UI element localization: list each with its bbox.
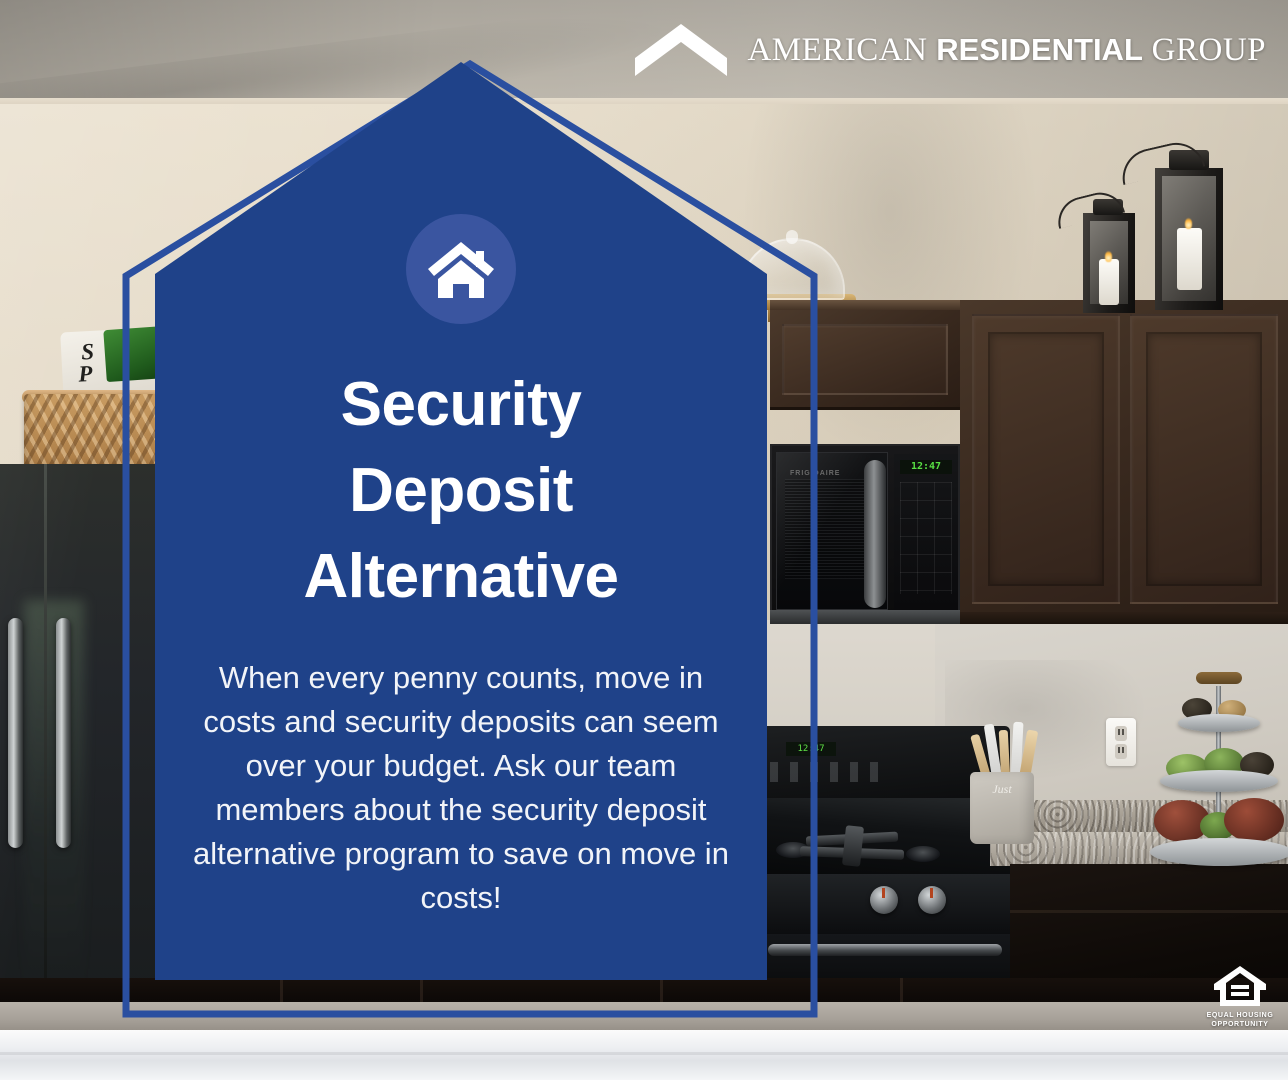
refrigerator-handle-left <box>8 618 23 848</box>
utensil-crock: Just <box>970 772 1034 844</box>
eho-line-2: OPPORTUNITY <box>1207 1020 1274 1029</box>
house-icon <box>426 238 496 300</box>
equal-housing-opportunity-logo: EQUAL HOUSING OPPORTUNITY <box>1204 964 1276 1036</box>
range-knob <box>870 886 898 914</box>
microwave-vent <box>770 610 960 624</box>
microwave-clock-display: 12:47 <box>900 460 952 474</box>
eho-line-1: EQUAL HOUSING <box>1207 1011 1274 1020</box>
wall-outlet <box>1106 718 1136 766</box>
poster-canvas: S P <box>0 0 1288 1080</box>
candle <box>1177 228 1202 290</box>
cabinet-door-inner <box>988 332 1104 586</box>
microwave-window <box>785 479 865 579</box>
tiered-tray-middle <box>1160 770 1278 792</box>
chevron-roof-icon <box>635 24 727 76</box>
equal-housing-opportunity-icon <box>1212 964 1268 1008</box>
tiered-tray-top <box>1178 714 1260 732</box>
brand-name-part2: RESIDENTIAL <box>936 32 1143 67</box>
microwave-control-panel: 12:47 <box>894 454 958 610</box>
range-clock-display: 12:47 <box>786 742 836 756</box>
microwave-keypad <box>900 482 952 594</box>
range-oven-handle <box>768 944 1002 956</box>
lantern-large <box>1155 168 1223 310</box>
brand-name-part3: GROUP <box>1143 32 1266 68</box>
outlet-socket <box>1115 726 1127 741</box>
refrigerator-seam <box>44 464 47 1024</box>
cabinet-left-panel <box>782 324 948 395</box>
cabinet-door-inner <box>1146 332 1262 586</box>
produce-item <box>1224 798 1284 842</box>
range-control-buttons <box>770 762 890 782</box>
cabinet-bottom-edge <box>960 612 1288 624</box>
page-title: Security Deposit Alternative <box>155 362 767 620</box>
range-burner <box>906 846 940 862</box>
cake-dome-knob <box>786 230 798 244</box>
bag-letter-2: P <box>78 361 94 388</box>
baseboard-trim <box>0 1030 1288 1080</box>
microwave-handle <box>864 460 886 608</box>
range-knob <box>918 886 946 914</box>
candle <box>1099 259 1119 305</box>
cabinet-door-left <box>972 314 1120 604</box>
tiered-tray-handle <box>1196 672 1242 684</box>
brand-logo-bar: AMERICAN RESIDENTIAL GROUP <box>0 0 1288 100</box>
cabinet-left <box>770 310 960 410</box>
headline-line-2: Deposit <box>155 448 767 534</box>
equal-housing-opportunity-label: EQUAL HOUSING OPPORTUNITY <box>1207 1011 1274 1029</box>
brand-name-part1: AMERICAN <box>747 32 936 68</box>
microwave-brand-label: FRIGIDAIRE <box>790 470 840 477</box>
refrigerator-reflection <box>24 600 84 1000</box>
house-icon-badge <box>406 214 516 324</box>
cabinet-door-right <box>1130 314 1278 604</box>
candle-flame-icon <box>1185 218 1192 229</box>
headline-line-3: Alternative <box>155 534 767 620</box>
lantern-small <box>1083 213 1135 313</box>
outlet-socket <box>1115 744 1127 759</box>
brand-name: AMERICAN RESIDENTIAL GROUP <box>747 32 1266 69</box>
cabinet-right <box>960 300 1288 620</box>
refrigerator-handle-right <box>56 618 71 848</box>
body-copy: When every penny counts, move in costs a… <box>181 656 741 920</box>
tiered-tray-bottom <box>1150 838 1288 866</box>
headline-line-1: Security <box>155 362 767 448</box>
candle-flame-icon <box>1105 251 1112 262</box>
pentagon-card-content: Security Deposit Alternative When every … <box>155 62 767 980</box>
crock-text-line1: Just <box>978 782 1026 796</box>
